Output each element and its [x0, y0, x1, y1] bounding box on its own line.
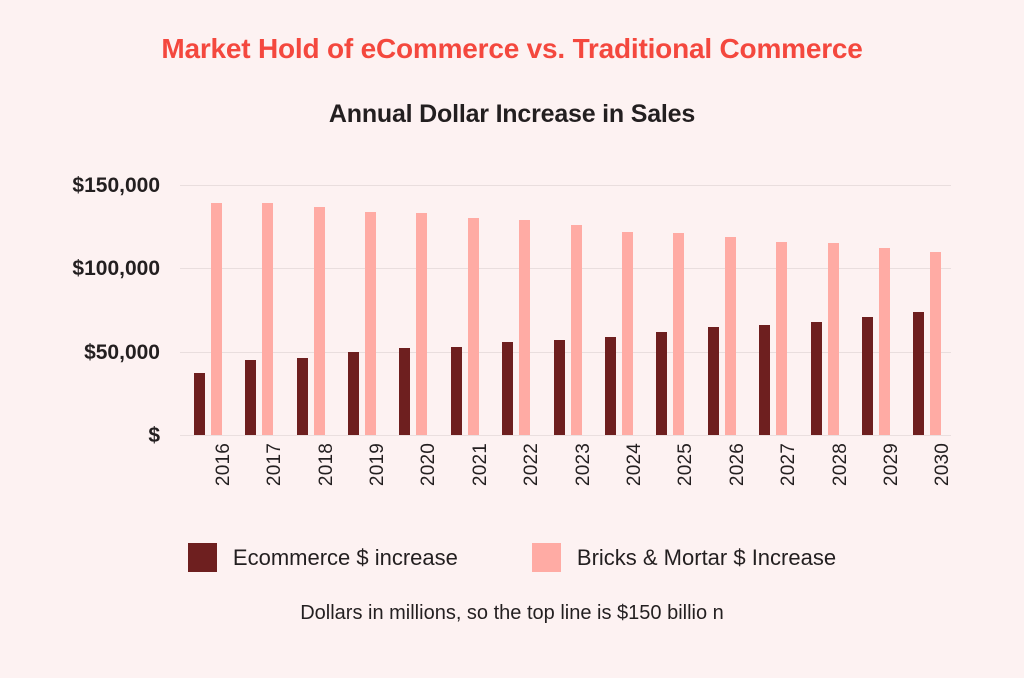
chart-legend: Ecommerce $ increaseBricks & Mortar $ In… — [0, 543, 1024, 572]
bar-bricks-mortar-2023[interactable] — [571, 225, 582, 435]
x-axis-tick-label-2026: 2026 — [727, 443, 749, 486]
bar-bricks-mortar-2024[interactable] — [622, 232, 633, 435]
y-axis-tick-label: $100,000 — [20, 257, 160, 281]
bar-bricks-mortar-2016[interactable] — [211, 203, 222, 435]
chart-subtitle: Annual Dollar Increase in Sales — [0, 100, 1024, 129]
gridline — [180, 185, 951, 186]
bar-ecommerce-2023[interactable] — [554, 340, 565, 435]
bar-ecommerce-2024[interactable] — [605, 337, 616, 435]
x-axis-tick-label-2025: 2025 — [675, 443, 697, 486]
bar-ecommerce-2030[interactable] — [913, 312, 924, 435]
chart-footnote: Dollars in millions, so the top line is … — [0, 602, 1024, 625]
bar-ecommerce-2027[interactable] — [759, 325, 770, 435]
x-axis-line — [180, 435, 951, 436]
bar-bricks-mortar-2021[interactable] — [468, 218, 479, 435]
x-axis-tick-label-2016: 2016 — [213, 443, 235, 486]
bar-ecommerce-2016[interactable] — [194, 373, 205, 435]
legend-label: Bricks & Mortar $ Increase — [577, 545, 836, 571]
bar-bricks-mortar-2022[interactable] — [519, 220, 530, 435]
bar-bricks-mortar-2025[interactable] — [673, 233, 684, 435]
bar-ecommerce-2025[interactable] — [656, 332, 667, 435]
x-axis-tick-label-2023: 2023 — [573, 443, 595, 486]
legend-swatch-icon — [188, 543, 217, 572]
bar-bricks-mortar-2020[interactable] — [416, 213, 427, 435]
bar-ecommerce-2019[interactable] — [348, 352, 359, 435]
bar-ecommerce-2022[interactable] — [502, 342, 513, 435]
bar-ecommerce-2018[interactable] — [297, 358, 308, 435]
x-axis-tick-label-2021: 2021 — [470, 443, 492, 486]
y-axis-tick-label: $ — [20, 424, 160, 448]
bar-ecommerce-2020[interactable] — [399, 348, 410, 435]
bar-ecommerce-2017[interactable] — [245, 360, 256, 435]
bar-bricks-mortar-2029[interactable] — [879, 248, 890, 435]
bar-bricks-mortar-2017[interactable] — [262, 203, 273, 435]
x-axis-tick-label-2020: 2020 — [418, 443, 440, 486]
bar-bricks-mortar-2026[interactable] — [725, 237, 736, 435]
plot-area — [180, 185, 951, 435]
bar-ecommerce-2021[interactable] — [451, 347, 462, 435]
y-axis-tick-label: $50,000 — [20, 341, 160, 365]
bar-ecommerce-2028[interactable] — [811, 322, 822, 435]
bar-bricks-mortar-2018[interactable] — [314, 207, 325, 435]
y-axis-tick-label: $150,000 — [20, 174, 160, 198]
legend-label: Ecommerce $ increase — [233, 545, 458, 571]
legend-swatch-icon — [532, 543, 561, 572]
page-title: Market Hold of eCommerce vs. Traditional… — [0, 33, 1024, 65]
x-axis-tick-label-2030: 2030 — [932, 443, 954, 486]
bar-bricks-mortar-2028[interactable] — [828, 243, 839, 435]
x-axis-tick-label-2024: 2024 — [624, 443, 646, 486]
bar-bricks-mortar-2030[interactable] — [930, 252, 941, 435]
legend-item-ecommerce[interactable]: Ecommerce $ increase — [188, 543, 458, 572]
x-axis-tick-label-2027: 2027 — [778, 443, 800, 486]
x-axis-tick-label-2019: 2019 — [367, 443, 389, 486]
bar-ecommerce-2029[interactable] — [862, 317, 873, 435]
chart-container: Market Hold of eCommerce vs. Traditional… — [0, 0, 1024, 678]
bar-bricks-mortar-2027[interactable] — [776, 242, 787, 435]
x-axis-tick-label-2028: 2028 — [830, 443, 852, 486]
x-axis-tick-label-2018: 2018 — [316, 443, 338, 486]
legend-item-bricks-mortar[interactable]: Bricks & Mortar $ Increase — [532, 543, 836, 572]
bar-ecommerce-2026[interactable] — [708, 327, 719, 435]
x-axis-tick-label-2017: 2017 — [264, 443, 286, 486]
x-axis-tick-label-2029: 2029 — [881, 443, 903, 486]
bar-bricks-mortar-2019[interactable] — [365, 212, 376, 435]
x-axis-tick-label-2022: 2022 — [521, 443, 543, 486]
